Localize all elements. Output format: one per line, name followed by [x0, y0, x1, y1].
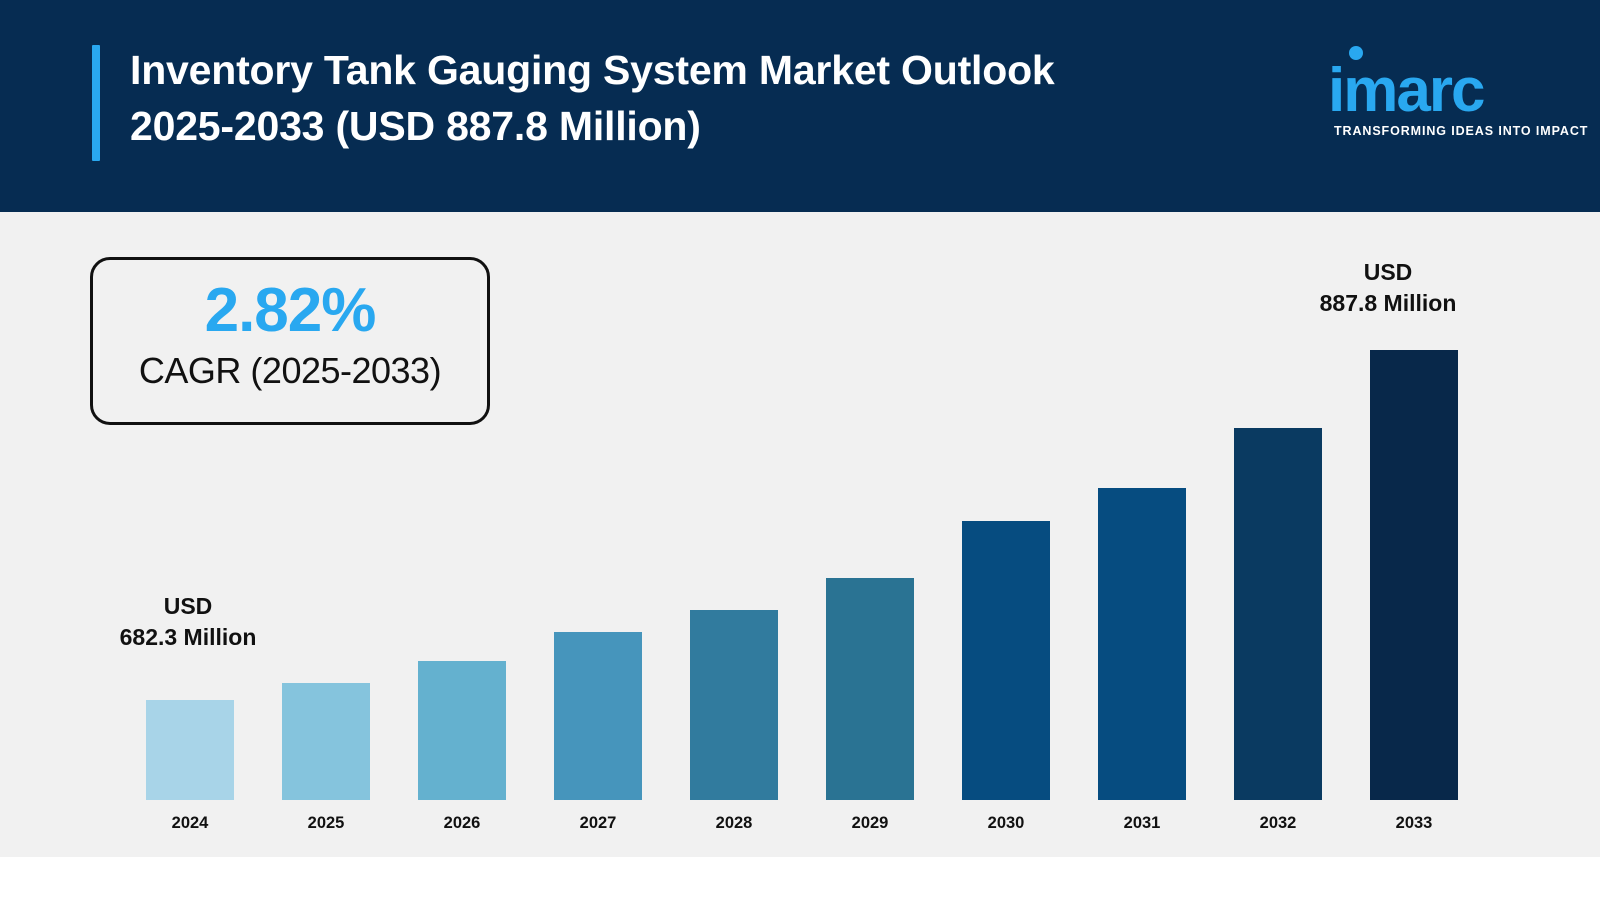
end-value-line1: USD	[1288, 257, 1488, 288]
x-axis-label-2031: 2031	[1074, 814, 1210, 833]
logo-tagline: TRANSFORMING IDEAS INTO IMPACT	[1334, 124, 1588, 138]
chart-body: 2.82% CAGR (2025-2033) USD 682.3 Million…	[0, 212, 1600, 857]
bar-2026	[418, 661, 506, 800]
x-axis-label-2024: 2024	[122, 814, 258, 833]
x-axis-label-2026: 2026	[394, 814, 530, 833]
x-axis-label-2030: 2030	[938, 814, 1074, 833]
page-title: Inventory Tank Gauging System Market Out…	[130, 42, 1250, 154]
bar-2025	[282, 683, 370, 800]
bar-2028	[690, 610, 778, 800]
bar-chart: USD 682.3 Million USD 887.8 Million 2024…	[0, 212, 1600, 857]
bar-2032	[1234, 428, 1322, 800]
bar-2029	[826, 578, 914, 800]
logo-wordmark: imarc	[1328, 56, 1483, 126]
bar-2024	[146, 700, 234, 800]
page-title-line1: Inventory Tank Gauging System Market Out…	[130, 42, 1250, 98]
bar-2030	[962, 521, 1050, 800]
footer-strip	[0, 857, 1600, 900]
bar-2027	[554, 632, 642, 800]
x-axis-label-2028: 2028	[666, 814, 802, 833]
imarc-logo[interactable]: imarc TRANSFORMING IDEAS INTO IMPACT	[1322, 42, 1572, 152]
start-value-callout: USD 682.3 Million	[88, 591, 288, 653]
end-value-line2: 887.8 Million	[1288, 288, 1488, 319]
page-title-line2: 2025-2033 (USD 887.8 Million)	[130, 98, 1250, 154]
start-value-line2: 682.3 Million	[88, 622, 288, 653]
end-value-callout: USD 887.8 Million	[1288, 257, 1488, 319]
title-accent-bar	[92, 45, 100, 161]
bar-2031	[1098, 488, 1186, 800]
x-axis-label-2033: 2033	[1346, 814, 1482, 833]
x-axis-label-2025: 2025	[258, 814, 394, 833]
x-axis-label-2027: 2027	[530, 814, 666, 833]
bar-2033	[1370, 350, 1458, 800]
x-axis-label-2029: 2029	[802, 814, 938, 833]
start-value-line1: USD	[88, 591, 288, 622]
x-axis-label-2032: 2032	[1210, 814, 1346, 833]
header-banner: Inventory Tank Gauging System Market Out…	[0, 0, 1600, 212]
infographic-page: Inventory Tank Gauging System Market Out…	[0, 0, 1600, 900]
